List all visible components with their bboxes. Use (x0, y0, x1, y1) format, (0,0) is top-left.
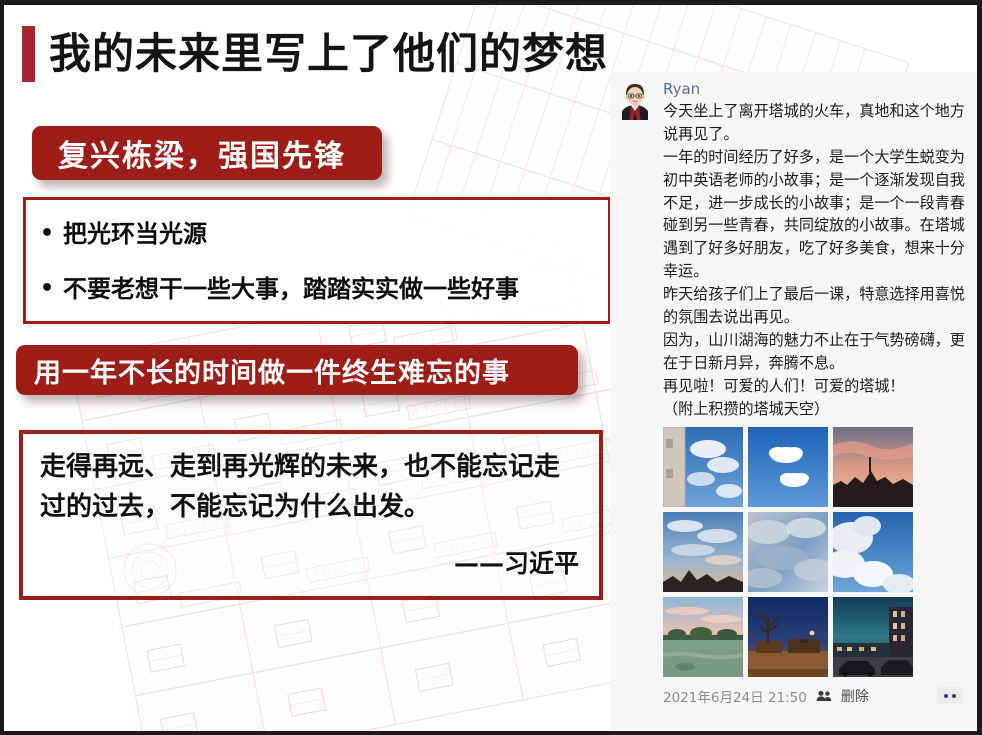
quote-text: 走得再远、走到再光辉的未来，也不能忘记走过的过去，不能忘记为什么出发。 (40, 447, 583, 528)
post-footer: 2021年6月24日 21:50 删除 (663, 686, 963, 706)
post-text: 今天坐上了离开塔城的火车，真地和这个地方说再见了。 一年的时间经历了好多，是一个… (663, 100, 971, 421)
post-author-name[interactable]: Ryan (663, 80, 971, 99)
photo-sky-two-clouds[interactable] (748, 427, 828, 507)
title-accent-bar (22, 26, 35, 82)
list-item-label: 把光环当光源 (63, 221, 207, 247)
bullet-dot-icon: • (40, 221, 50, 246)
bullet-dot-icon: • (40, 276, 50, 301)
list-item: • 把光环当光源 (40, 221, 600, 247)
page-title-row: 我的未来里写上了他们的梦想 (22, 26, 608, 82)
photo-sky-building-clouds[interactable] (663, 427, 743, 507)
photo-twilight-street[interactable] (833, 597, 913, 677)
avatar[interactable] (616, 80, 654, 120)
delete-button[interactable]: 删除 (841, 686, 869, 706)
wechat-moment-post: Ryan 今天坐上了离开塔城的火车，真地和这个地方说再见了。 一年的时间经历了好… (610, 72, 977, 730)
photo-sunset-pink-sky[interactable] (833, 427, 913, 507)
banner-primary-label: 复兴栋梁，强国先锋 (58, 131, 346, 175)
list-item: • 不要老想干一些大事，踏踏实实做一些好事 (40, 276, 600, 302)
people-icon (816, 690, 832, 702)
more-dots-icon[interactable] (937, 687, 963, 704)
banner-secondary-label: 用一年不长的时间做一件终生难忘的事 (34, 351, 510, 390)
frame-edge-left (0, 0, 4, 735)
banner-secondary: 用一年不长的时间做一件终生难忘的事 (16, 345, 578, 395)
quote-box: 走得再远、走到再光辉的未来，也不能忘记走过的过去，不能忘记为什么出发。 ——习近… (19, 430, 603, 600)
slide-left-content: 我的未来里写上了他们的梦想 复兴栋梁，强国先锋 • 把光环当光源 • 不要老想干… (0, 0, 612, 735)
photo-lake-reflection[interactable] (663, 597, 743, 677)
list-item-label: 不要老想干一些大事，踏踏实实做一些好事 (63, 276, 519, 302)
photo-sky-dusk-trees[interactable] (663, 512, 743, 592)
page-title: 我的未来里写上了他们的梦想 (49, 33, 608, 75)
photo-overcast-clouds[interactable] (748, 512, 828, 592)
photo-night-street-trees[interactable] (748, 597, 828, 677)
banner-primary: 复兴栋梁，强国先锋 (32, 126, 382, 180)
bullet-list-box: • 把光环当光源 • 不要老想干一些大事，踏踏实实做一些好事 (23, 197, 611, 324)
post-body: Ryan 今天坐上了离开塔城的火车，真地和这个地方说再见了。 一年的时间经历了好… (663, 80, 971, 421)
post-photo-grid (663, 427, 971, 677)
post-header: Ryan 今天坐上了离开塔城的火车，真地和这个地方说再见了。 一年的时间经历了好… (616, 80, 971, 421)
frame-edge-top (0, 0, 982, 5)
frame-edge-right (977, 0, 982, 735)
post-timestamp: 2021年6月24日 21:50 (663, 686, 807, 706)
quote-attribution: ——习近平 (454, 544, 579, 580)
photo-big-cumulus[interactable] (833, 512, 913, 592)
frame-edge-bottom (0, 731, 982, 735)
slide-canvas: 我的未来里写上了他们的梦想 复兴栋梁，强国先锋 • 把光环当光源 • 不要老想干… (0, 0, 982, 735)
